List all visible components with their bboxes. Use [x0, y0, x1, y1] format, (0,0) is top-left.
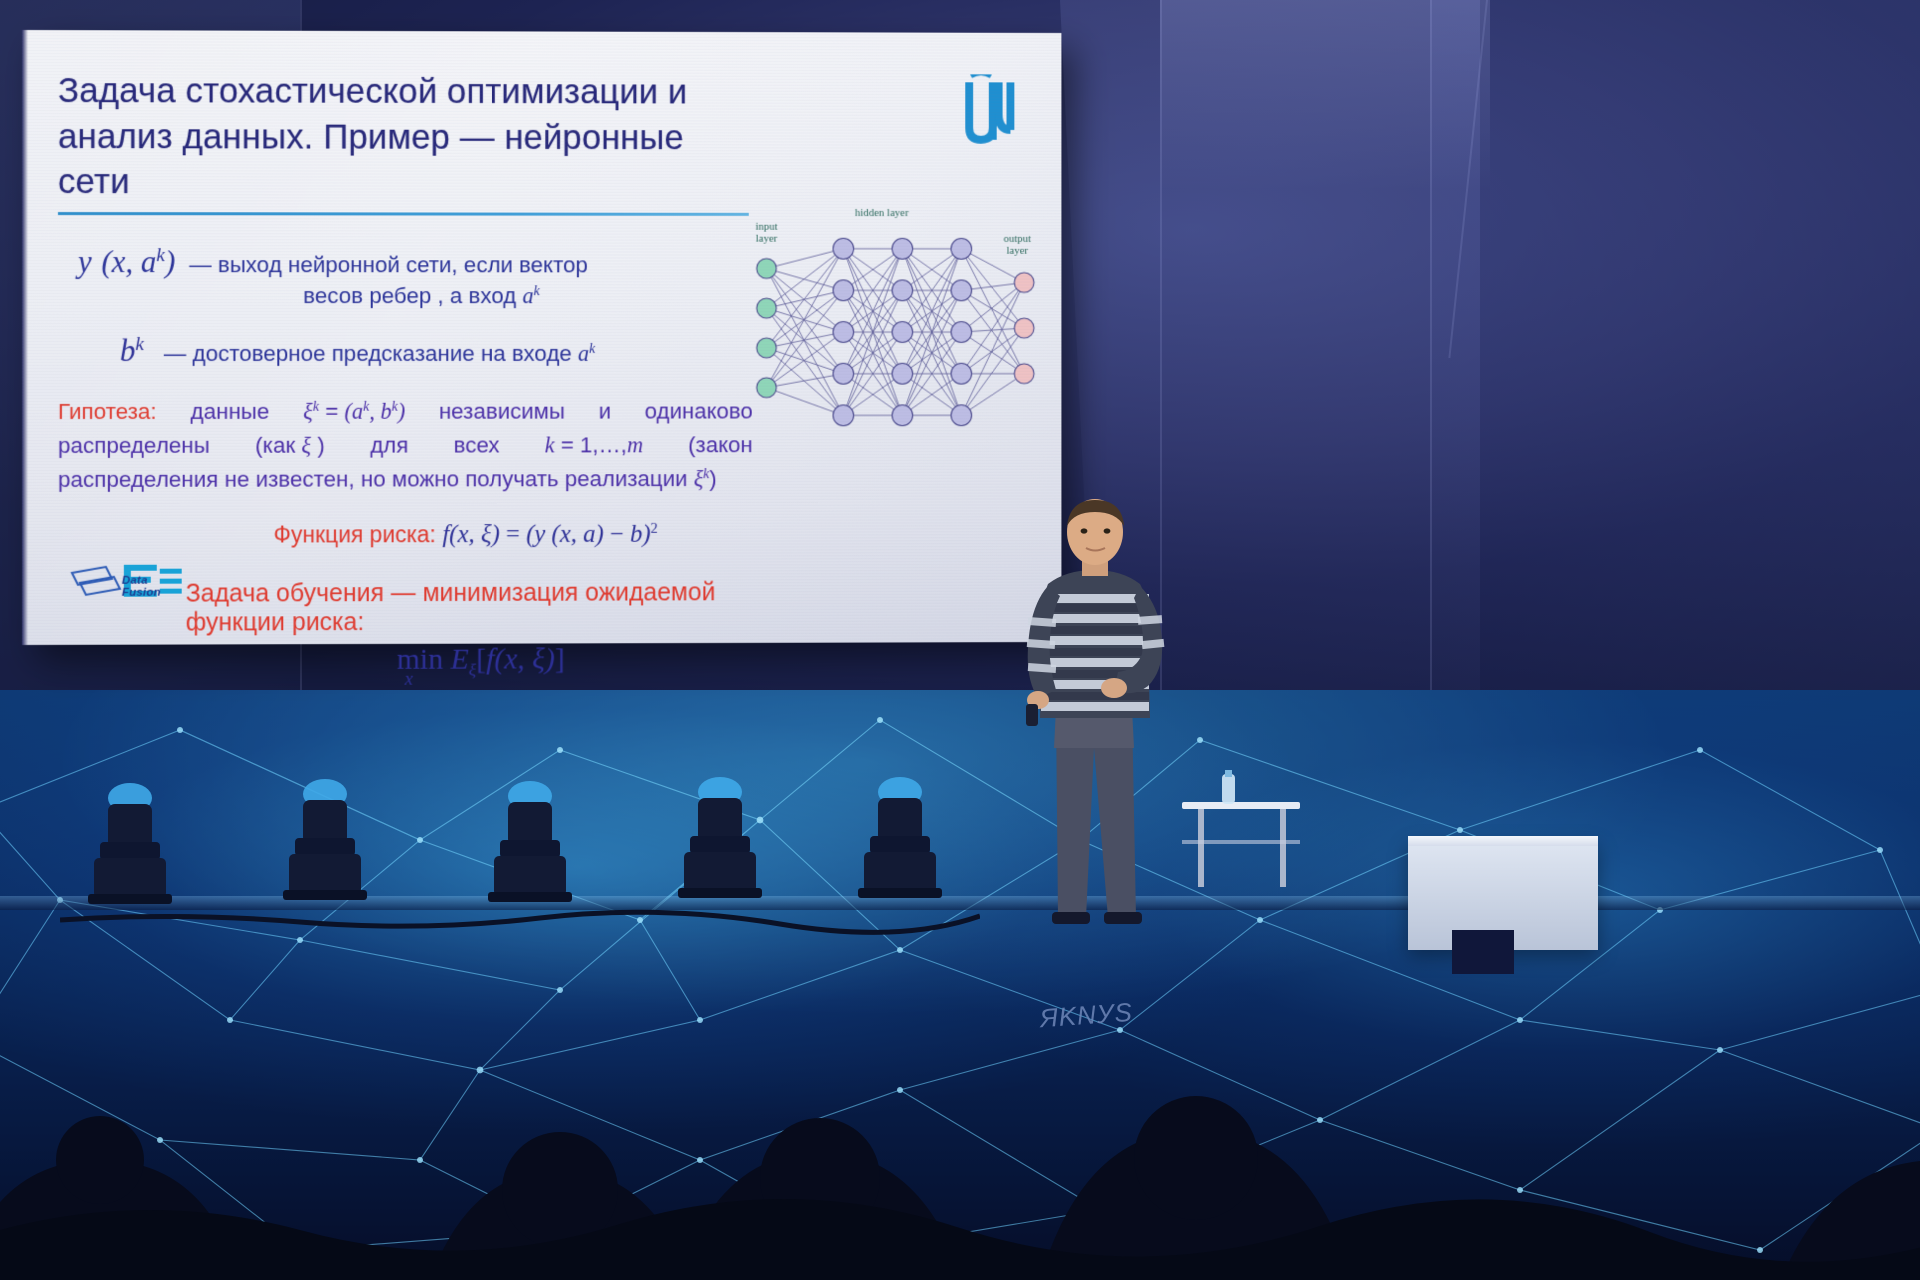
nn-hidden-layer-label: hidden layer [841, 207, 922, 219]
wall-panel-top [1160, 0, 1490, 190]
em-dash: — [189, 252, 211, 277]
risk-function-formula: f(x, ξ) = (y (x, a) − b)2 [442, 521, 657, 548]
learning-task-label: Задача обучения — [186, 579, 416, 607]
data-fusion-logo: Data Fusion [66, 559, 186, 621]
wall-panel-right [1430, 0, 1920, 700]
title-underline-rule [58, 212, 749, 216]
definition-y-line1: выход нейронной сети, если вектор [218, 252, 588, 277]
hypothesis-label: Гипотеза: [58, 395, 157, 429]
risk-function-label: Функция риска: [274, 521, 436, 547]
audience-silhouettes [0, 760, 1920, 1280]
presentation-slide: Задача стохастической оптимизации и анал… [22, 30, 1061, 645]
hypothesis-block: Гипотеза: данные ξk = (ak, bk) независим… [58, 395, 753, 498]
neural-network-diagram: input layer hidden layer output layer [737, 207, 1044, 455]
min-operator: min x [397, 643, 443, 677]
nn-output-layer-label: output layer [995, 233, 1040, 257]
definition-y-line2: весов ребер , а вход ak [189, 280, 588, 311]
formula-y-of-x-a: y (x, ak) [78, 244, 175, 280]
definition-y-function: y (x, ak) — выход нейронной сети, если в… [58, 244, 753, 311]
nn-input-layer-label: input layer [745, 221, 788, 245]
projection-screen: Задача стохастической оптимизации и анал… [22, 30, 1061, 645]
data-fusion-caption: Data Fusion [122, 575, 186, 599]
hypothesis-line-1: Гипотеза: данные ξk = (ak, bk) независим… [58, 395, 753, 430]
wall-seam-2 [1430, 0, 1432, 700]
minimization-formula: min x Eξ[f(x, ξ)] [58, 642, 753, 682]
stage-backdrop: Задача стохастической оптимизации и анал… [0, 0, 1920, 1280]
hse-logo [959, 74, 1028, 145]
slide-title-line-1: Задача стохастической оптимизации и [58, 71, 687, 111]
risk-function-line: Функция риска: f(x, ξ) = (y (x, a) − b)2 [58, 520, 753, 550]
formula-b-k: bk [120, 333, 144, 369]
definition-y-text: — выход нейронной сети, если вектор весо… [189, 249, 588, 311]
shirt-graffiti-text: ЯKNУS [1039, 997, 1134, 1034]
definition-b-text: — достоверное предсказание на входе ak [164, 341, 595, 367]
hypothesis-line-3: распределения не известен, но можно полу… [58, 463, 753, 498]
em-dash-2: — [164, 341, 186, 366]
slide-title: Задача стохастической оптимизации и анал… [58, 68, 753, 205]
hypothesis-line-2: распределены (как ξ ) для всех k = 1,…,m… [58, 429, 753, 464]
formula-xi-k-tuple: ξk = (ak, bk) [303, 395, 405, 429]
definition-b-value: bk — достоверное предсказание на входе a… [58, 333, 753, 369]
slide-title-line-2: анализ данных. Пример — нейронные сети [58, 114, 753, 206]
